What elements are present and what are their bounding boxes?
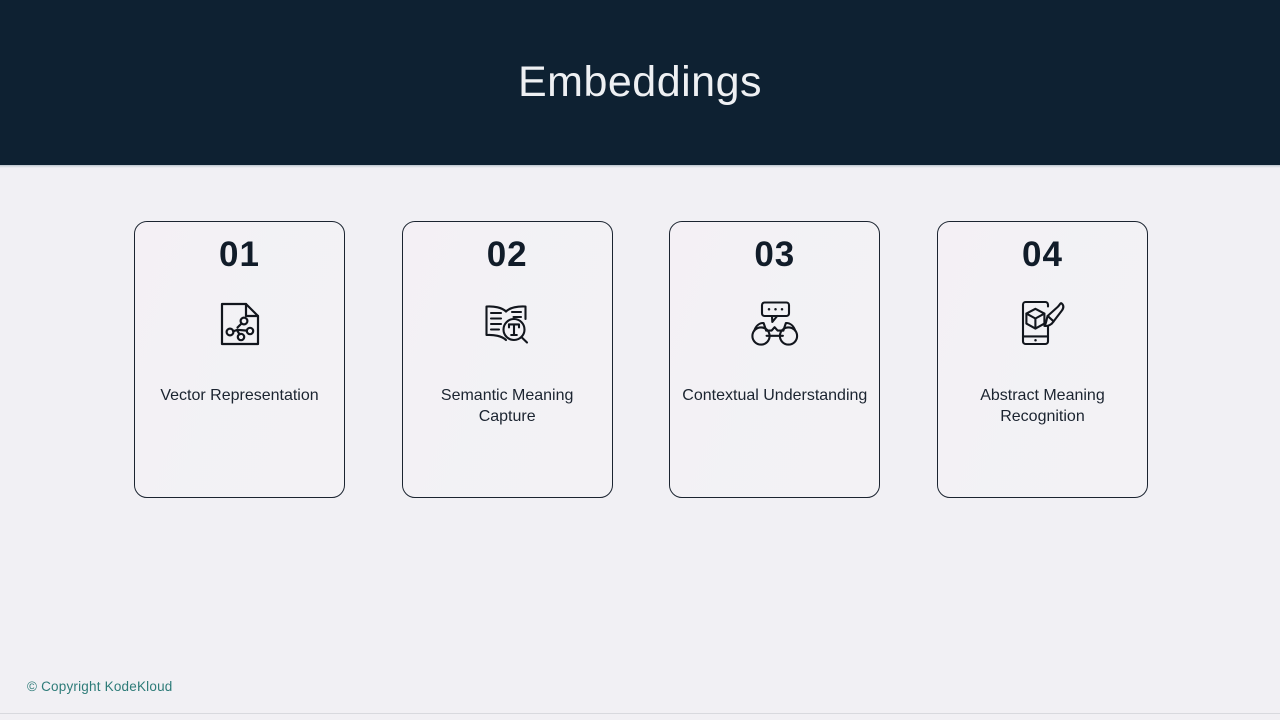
bottom-divider [0, 713, 1280, 714]
book-magnifier-text-icon [479, 297, 535, 351]
slide: Embeddings 01 Vector R [0, 0, 1280, 720]
page-title: Embeddings [518, 61, 762, 104]
phone-cube-paintbrush-icon [1014, 297, 1070, 351]
card-04[interactable]: 04 Abstract Meaning Recognition [937, 221, 1148, 498]
card-number: 01 [219, 236, 260, 275]
card-02[interactable]: 02 Seman [402, 221, 613, 498]
slide-header: Embeddings [0, 0, 1280, 165]
copyright-footer: © Copyright KodeKloud [27, 679, 172, 694]
card-label: Contextual Understanding [674, 385, 875, 406]
card-row: 01 Vector Representation 02 [134, 221, 1148, 498]
card-label: Vector Representation [152, 385, 326, 406]
binoculars-speech-bubble-icon [747, 297, 803, 351]
document-node-graph-icon [212, 297, 268, 351]
card-label: Semantic Meaning Capture [403, 385, 612, 427]
card-number: 04 [1022, 236, 1063, 275]
card-number: 03 [754, 236, 795, 275]
header-divider [0, 165, 1280, 168]
card-label: Abstract Meaning Recognition [938, 385, 1147, 427]
card-01[interactable]: 01 Vector Representation [134, 221, 345, 498]
card-03[interactable]: 03 Contextual Understanding [669, 221, 880, 498]
card-number: 02 [487, 236, 528, 275]
